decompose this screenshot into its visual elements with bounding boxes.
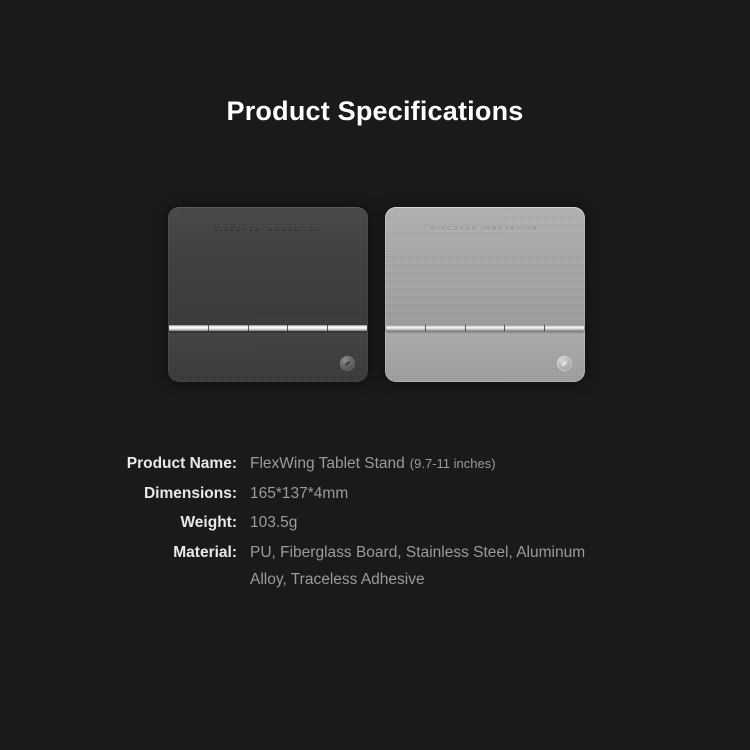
nillkin-logo-icon [560, 359, 569, 368]
hinge-segment [386, 325, 426, 331]
hinge-segment [426, 325, 466, 331]
hinge-segment [169, 325, 209, 331]
nillkin-logo-badge-black [340, 356, 355, 371]
spec-value-weight: 103.5g [250, 512, 297, 533]
spec-row-weight: Weight: 103.5g [0, 512, 750, 533]
material-line-1: PU, Fiberglass Board, Stainless Steel, A… [250, 542, 585, 563]
spec-row-dimensions: Dimensions: 165*137*4mm [0, 483, 750, 504]
nillkin-logo-icon [343, 359, 352, 368]
hinge-strip-black [169, 325, 367, 331]
brand-tagline-grey: DISCOVER INNOVATION [385, 226, 585, 232]
spec-row-material: Material: PU, Fiberglass Board, Stainles… [0, 542, 750, 590]
nillkin-logo-badge-grey [557, 356, 572, 371]
spec-row-product-name: Product Name: FlexWing Tablet Stand(9.7-… [0, 453, 750, 474]
spec-value-product-name: FlexWing Tablet Stand(9.7-11 inches) [250, 453, 496, 474]
hinge-segment [328, 325, 367, 331]
hinge-segment [505, 325, 545, 331]
product-specification-page: Product Specifications DISCOVER INNOVATI… [0, 0, 750, 750]
product-name-size-note: (9.7-11 inches) [410, 456, 496, 471]
spec-label-weight: Weight: [0, 512, 237, 533]
product-image-grey: DISCOVER INNOVATION [385, 207, 585, 382]
pu-texture-overlay [168, 207, 368, 382]
product-image-black: DISCOVER INNOVATION [168, 207, 368, 382]
spec-label-dimensions: Dimensions: [0, 483, 237, 504]
spec-label-product-name: Product Name: [0, 453, 237, 474]
hinge-segment [209, 325, 249, 331]
lower-panel-black [168, 331, 368, 382]
specification-list: Product Name: FlexWing Tablet Stand(9.7-… [0, 453, 750, 598]
upper-panel-sheen [385, 207, 585, 325]
lower-panel-grey [385, 331, 585, 382]
page-title: Product Specifications [0, 96, 750, 127]
spec-label-material: Material: [0, 542, 237, 563]
material-line-2: Alloy, Traceless Adhesive [250, 569, 585, 590]
hinge-segment [288, 325, 328, 331]
product-image-row: DISCOVER INNOVATION DISCOVER INNOVATION [0, 207, 750, 387]
product-name-text: FlexWing Tablet Stand [250, 455, 405, 472]
upper-panel-sheen [168, 207, 368, 325]
hinge-segment [545, 325, 584, 331]
pu-texture-overlay [385, 207, 585, 382]
hinge-segment [466, 325, 506, 331]
brand-tagline-black: DISCOVER INNOVATION [168, 226, 368, 232]
hinge-strip-grey [386, 325, 584, 331]
spec-value-dimensions: 165*137*4mm [250, 483, 348, 504]
hinge-segment [249, 325, 289, 331]
spec-value-material: PU, Fiberglass Board, Stainless Steel, A… [250, 542, 585, 590]
